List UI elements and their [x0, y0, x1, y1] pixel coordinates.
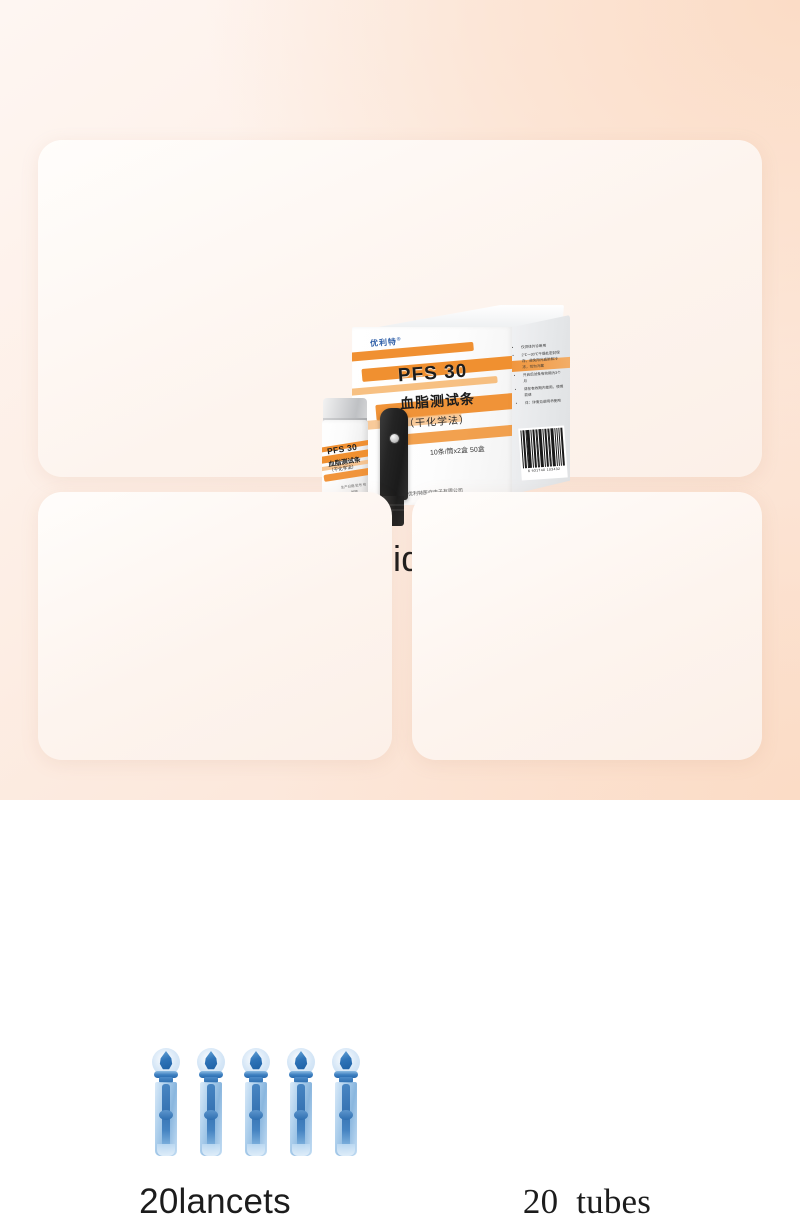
lancet-item — [330, 1048, 362, 1156]
lancet-knot — [159, 1110, 173, 1120]
product-card-blood-lipids[interactable]: 仅供体外诊断用 2℃～30℃干燥处密封保存，避免阳光直射和冷冻，切勿冷藏 开启后… — [38, 140, 762, 477]
product-card-tubes[interactable]: 20 tubes — [412, 492, 762, 760]
product-box: 仅供体外诊断用 2℃～30℃干燥处密封保存，避免阳光直射和冷冻，切勿冷藏 开启后… — [338, 305, 588, 520]
lancet-item — [195, 1048, 227, 1156]
product-card-lancets[interactable]: 20lancets — [38, 492, 392, 760]
product-page: 仅供体外诊断用 2℃～30℃干燥处密封保存，避免阳光直射和冷冻，切勿冷藏 开启后… — [0, 0, 800, 800]
box-side-bullet-list: 仅供体外诊断用 2℃～30℃干燥处密封保存，避免阳光直射和冷冻，切勿冷藏 开启后… — [516, 341, 566, 408]
lancet-knot — [204, 1110, 218, 1120]
brand-trademark: ® — [397, 336, 402, 342]
lancing-device-body — [380, 408, 408, 500]
lancet-tip — [337, 1144, 355, 1156]
lancet-item — [150, 1048, 182, 1156]
box-bullet-item: 开启后试条有效期为3个月 — [523, 370, 565, 385]
caption-tubes: 20 tubes — [412, 1182, 762, 1222]
lancet-item — [240, 1048, 272, 1156]
lancet-tip — [157, 1144, 175, 1156]
caption-lancets: 20lancets — [38, 1182, 392, 1222]
brand-logo: 优利特® — [370, 336, 402, 349]
box-side-panel: 仅供体外诊断用 2℃～30℃干燥处密封保存，避免阳光直射和冷冻，切勿冷藏 开启后… — [510, 315, 570, 495]
lancet-knot — [249, 1110, 263, 1120]
lancet-tip — [202, 1144, 220, 1156]
lancet-tip — [292, 1144, 310, 1156]
box-front-panel: 优利特® PFS 30 血脂测试条 （干化学法） 10条/筒x2盒 50盒 杭州… — [352, 327, 512, 505]
box-quantity: 10条/筒x2盒 50盒 — [430, 445, 485, 459]
box-product-method: （干化学法） — [404, 411, 471, 431]
box-bullet-item: 请在有效期内使用，使用前请 — [524, 384, 566, 399]
lancet-knot — [294, 1110, 308, 1120]
box-bullet-item: 2℃～30℃干燥处密封保存，避免阳光直射和冷冻，切勿冷藏 — [521, 349, 563, 371]
brand-logo-text: 优利特 — [370, 337, 398, 348]
lancet-tip — [247, 1144, 265, 1156]
lancing-device-release-button — [390, 434, 399, 443]
lancet-group — [150, 1048, 360, 1158]
lancet-item — [285, 1048, 317, 1156]
box-bullet-item: 详：详情见说明书使用 — [525, 398, 566, 407]
lancet-knot — [339, 1110, 353, 1120]
vial-cap — [323, 398, 367, 420]
barcode: 6 931740 103432 — [518, 425, 568, 480]
